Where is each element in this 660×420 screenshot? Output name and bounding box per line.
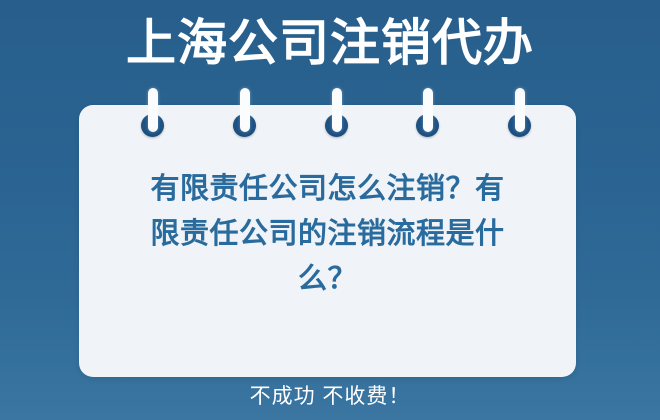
notepad-card: 有限责任公司怎么注销？有 限责任公司的注销流程是什 么？ <box>79 105 576 377</box>
headline-line-2: 限责任公司的注销流程是什 <box>99 212 556 257</box>
poster-canvas: 上海公司注销代办 有限责任公司怎么注销？有 限责任公司的注销流程是什 么？ 不成… <box>0 0 660 420</box>
binding-ring-1 <box>141 88 164 138</box>
binding-ring-4 <box>416 88 439 138</box>
headline-line-1: 有限责任公司怎么注销？有 <box>99 167 556 212</box>
ring-band-icon <box>515 88 525 132</box>
binding-ring-5 <box>508 88 531 138</box>
ring-band-icon <box>423 88 433 132</box>
ring-band-icon <box>332 88 342 132</box>
binding-ring-2 <box>233 88 256 138</box>
headline-line-3: 么？ <box>99 257 556 302</box>
footer-tagline: 不成功 不收费！ <box>0 384 660 410</box>
page-title: 上海公司注销代办 <box>0 13 660 73</box>
ring-band-icon <box>240 88 250 132</box>
ring-band-icon <box>148 88 158 132</box>
headline: 有限责任公司怎么注销？有 限责任公司的注销流程是什 么？ <box>99 167 556 302</box>
binding-ring-3 <box>325 88 348 138</box>
